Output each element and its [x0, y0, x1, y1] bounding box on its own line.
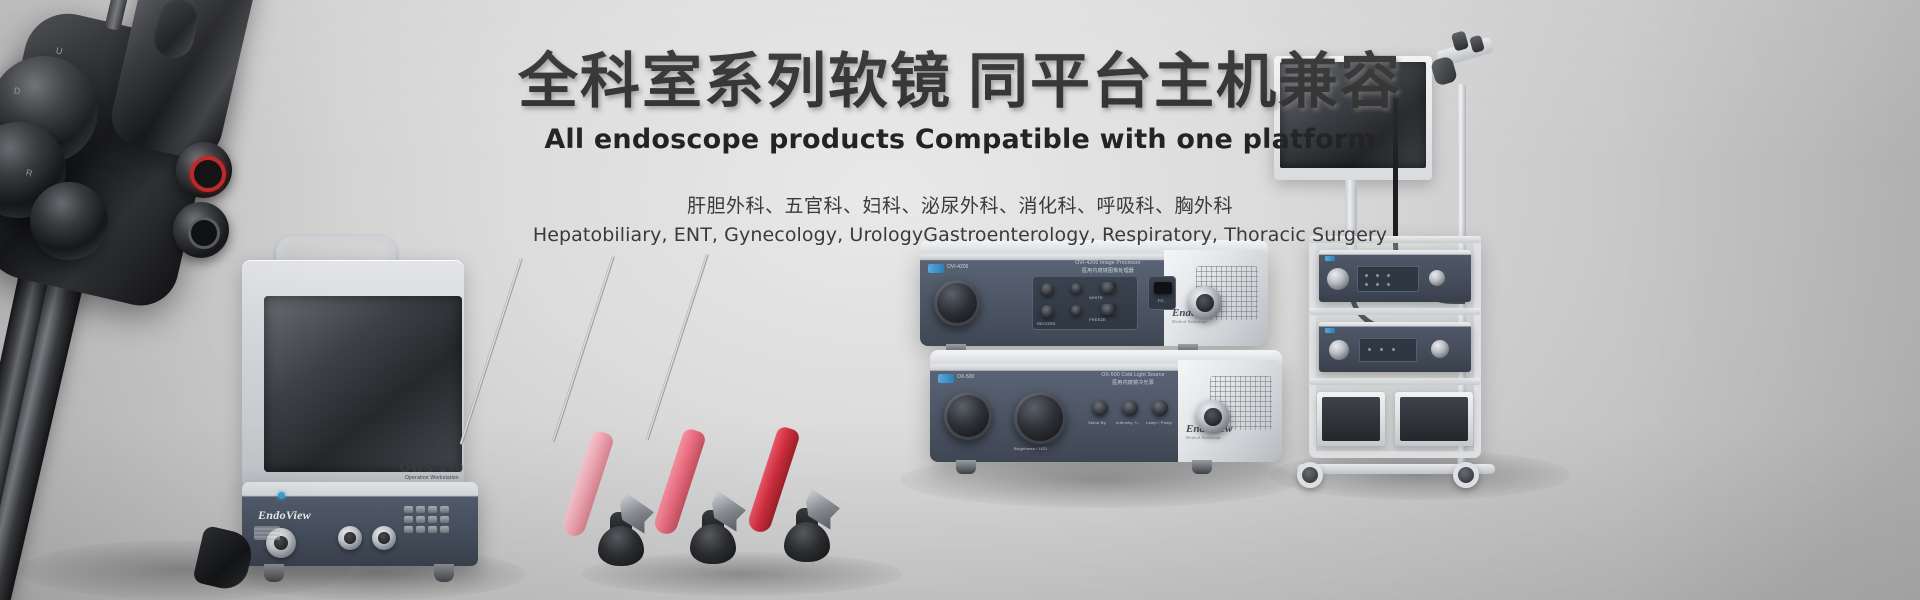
- workstation-key[interactable]: [404, 526, 413, 533]
- departments-chinese: 肝胆外科、五官科、妇科、泌尿外科、消化科、呼吸科、胸外科: [0, 191, 1920, 218]
- workstation-key[interactable]: [428, 526, 437, 533]
- trolley-light-accent: [1325, 328, 1335, 333]
- trolley-processor-dot: [1387, 274, 1390, 277]
- instrument-handle: [652, 427, 707, 537]
- trolley-light-dot: [1368, 348, 1371, 351]
- lightsource-label-pump: Lamp / Pump: [1146, 420, 1172, 425]
- banner-text-block: 全科室系列软镜同平台主机兼容 All endoscope products Co…: [0, 52, 1920, 246]
- departments-english: Hepatobiliary, ENT, Gynecology, UrologyG…: [0, 224, 1920, 246]
- lightsource-foot-left: [956, 460, 976, 474]
- workstation-foot-right: [434, 564, 454, 582]
- trolley-processor-dot: [1365, 274, 1368, 277]
- processor-button-1[interactable]: [1041, 283, 1054, 296]
- workstation-keypad[interactable]: [404, 506, 449, 533]
- lightsource-output-port: [1196, 400, 1230, 434]
- lightsource-title-plate: OX-500 Cold Light Source 医用内窥镜冷光源: [1070, 372, 1196, 387]
- processor-button-4[interactable]: [1071, 305, 1082, 316]
- trolley-processor-dial: [1327, 268, 1349, 290]
- lightsource-label-standby: Stand By: [1088, 420, 1106, 425]
- lightsource-title-en: OX-500 Cold Light Source: [1070, 372, 1196, 380]
- subheadline-english: All endoscope products Compatible with o…: [0, 124, 1920, 155]
- trolley-processor-dot: [1387, 283, 1390, 286]
- processor-button-label-2: FREEZE: [1089, 317, 1106, 322]
- trolley-processor-dot: [1376, 274, 1379, 277]
- trolley-light-panel: [1359, 338, 1417, 362]
- workstation-model-label: OWS-100 Operation Workstation: [400, 460, 464, 481]
- processor-button-5[interactable]: [1101, 282, 1116, 293]
- processor-title-en: OVI-4206 Image Processor: [1048, 260, 1168, 268]
- instrument-handle: [560, 429, 615, 539]
- lightsource-accent-bar: [938, 374, 954, 383]
- workstation-key[interactable]: [440, 526, 449, 533]
- trolley-light-port: [1431, 340, 1449, 358]
- workstation-key[interactable]: [428, 506, 437, 513]
- lightsource-standby-button[interactable]: [1092, 400, 1108, 416]
- headline-chinese: 全科室系列软镜同平台主机兼容: [0, 52, 1920, 112]
- processor-title-plate: OVI-4206 Image Processor 医用内窥镜图像处理器: [1048, 260, 1168, 275]
- processor-scope-connector: [934, 280, 980, 326]
- workstation-key[interactable]: [440, 516, 449, 523]
- headline-chinese-part2: 同平台主机兼容: [968, 48, 1402, 115]
- processor-button-label-3: RECORD: [1037, 321, 1056, 326]
- lightsource-pump-button[interactable]: [1152, 400, 1168, 416]
- trolley-cold-light-source: [1319, 322, 1471, 372]
- workstation-model-text: OWS-100: [400, 460, 464, 475]
- workstation-key[interactable]: [416, 526, 425, 533]
- trolley-drawer-left[interactable]: [1317, 392, 1385, 446]
- workstation-key[interactable]: [428, 516, 437, 523]
- headline-chinese-part1: 全科室系列软镜: [518, 48, 952, 115]
- processor-usb-port[interactable]: [1154, 282, 1172, 294]
- trolley-processor-dot: [1365, 283, 1368, 286]
- lightsource-label-intensity: Intensity +/-: [1116, 420, 1139, 425]
- trolley-shelf-low: [1309, 378, 1481, 385]
- workstation-key[interactable]: [404, 516, 413, 523]
- processor-button-6[interactable]: [1101, 304, 1116, 315]
- trolley-shelf-mid: [1309, 308, 1481, 315]
- trolley-drawer-right[interactable]: [1395, 392, 1473, 446]
- processor-title-zh: 医用内窥镜图像处理器: [1048, 268, 1168, 276]
- workstation-key[interactable]: [416, 516, 425, 523]
- trolley-wheel-right: [1453, 462, 1479, 488]
- processor-button-label-1: WHITE: [1089, 295, 1103, 300]
- endoscope-product-banner: 全科室系列软镜同平台主机兼容 All endoscope products Co…: [0, 0, 1920, 600]
- trolley-processor-accent: [1325, 256, 1335, 261]
- lightsource-accent-label: OX-500: [957, 374, 974, 380]
- trolley-light-dot: [1392, 348, 1395, 351]
- trolley-processor-dot: [1376, 283, 1379, 286]
- processor-output-port: [1188, 286, 1222, 320]
- trolley-wheel-left: [1297, 462, 1323, 488]
- instrument-handle: [746, 425, 801, 535]
- processor-port-panel: PC: [1148, 276, 1176, 310]
- processor-port-label: PC: [1158, 298, 1164, 303]
- lightsource-dial-label: Brightness / LED: [1014, 446, 1047, 451]
- lightsource-intensity-button[interactable]: [1122, 400, 1138, 416]
- lightsource-scope-connector: [944, 392, 992, 440]
- workstation-key[interactable]: [440, 506, 449, 513]
- laparoscopic-instrument-red: [706, 254, 846, 554]
- processor-button-panel: WHITE FREEZE RECORD: [1032, 276, 1138, 330]
- trolley-processor-panel: [1357, 266, 1419, 292]
- instrument-base: [784, 522, 830, 562]
- trolley-drawer-right-face: [1400, 397, 1468, 441]
- processor-brand-sub: Medical Endoscope: [1172, 319, 1218, 324]
- image-processor-unit: EndoView Medical Endoscope OVI-4206 OVI-…: [920, 250, 1268, 346]
- lightsource-foot-right: [1192, 460, 1212, 474]
- trolley-light-dot: [1380, 348, 1383, 351]
- trolley-image-processor: [1319, 250, 1471, 302]
- processor-button-3[interactable]: [1071, 283, 1082, 294]
- processor-button-2[interactable]: [1041, 305, 1054, 318]
- lightsource-brand-sub: Medical Endoscope: [1186, 435, 1232, 440]
- workstation-model-sub: Operation Workstation: [400, 475, 464, 481]
- trolley-drawer-left-face: [1322, 397, 1380, 441]
- processor-accent-label: OVI-4206: [947, 264, 968, 270]
- workstation-key[interactable]: [416, 506, 425, 513]
- processor-stack: EndoView Medical Endoscope OVI-4206 OVI-…: [920, 250, 1280, 470]
- endoscope-distal-tip: [192, 525, 256, 593]
- trolley-processor-port: [1429, 270, 1445, 286]
- lightsource-brightness-dial[interactable]: [1014, 392, 1066, 444]
- workstation-key[interactable]: [404, 506, 413, 513]
- trolley-light-dial: [1329, 340, 1349, 360]
- processor-accent-bar: [928, 264, 944, 273]
- cold-light-source-unit: EndoView Medical Endoscope OX-500 OX-500…: [930, 360, 1282, 462]
- lightsource-title-zh: 医用内窥镜冷光源: [1070, 380, 1196, 388]
